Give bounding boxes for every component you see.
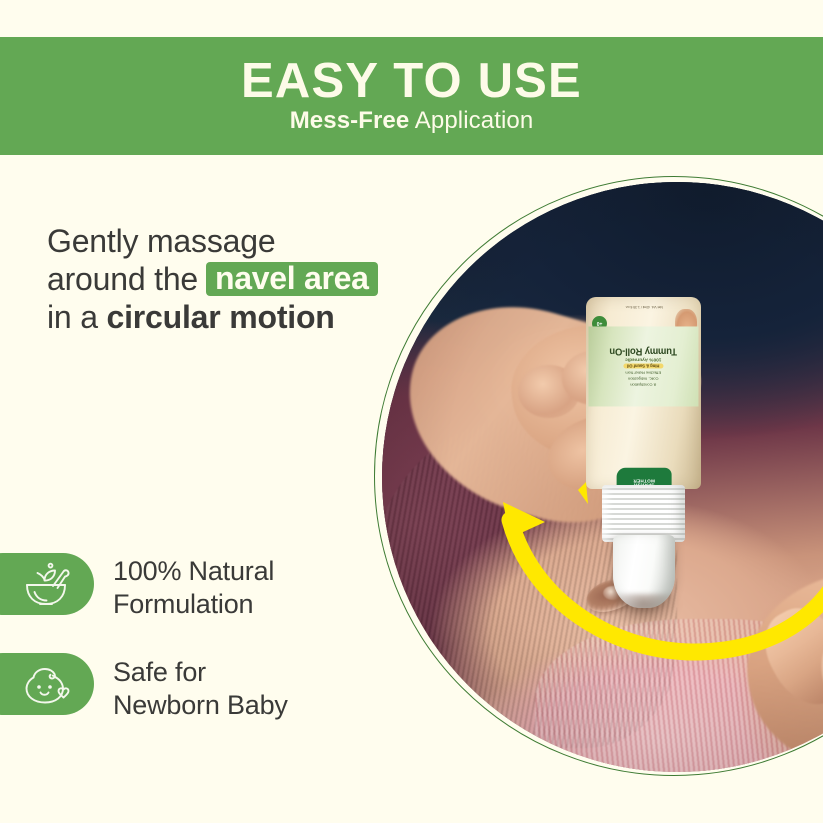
bottle-label: & Constipation Colic, Indigestion Effect… — [588, 326, 698, 406]
header-subtitle-bold: Mess-Free — [290, 107, 410, 134]
feature-label-natural: 100% Natural Formulation — [113, 555, 274, 621]
bottle-contact-shadow — [607, 594, 681, 627]
product-name: Tummy Roll-On — [610, 345, 677, 357]
instruction-line-2: around the navel area — [47, 260, 387, 298]
header-subtitle-rest: Application — [415, 107, 534, 134]
instruction-text-block: Gently massage around the navel area in … — [47, 222, 387, 336]
bottle-body: Net Vol. 40ml / 1.35 fl.oz. +0 & Constip… — [586, 297, 701, 489]
instruction-line-3-prefix: in a — [47, 299, 98, 335]
product-usage-photo: Net Vol. 40ml / 1.35 fl.oz. +0 & Constip… — [382, 182, 823, 772]
header-band: EASY TO USE Mess-Free Application — [0, 37, 823, 155]
bottle-neck-rings — [602, 485, 685, 541]
mortar-pestle-leaf-icon — [20, 561, 72, 607]
navel-area-highlight: navel area — [206, 262, 378, 296]
instruction-line-3: in a circular motion — [47, 298, 387, 336]
feature-1-line-1: 100% Natural — [113, 555, 274, 588]
instruction-line-3-bold: circular motion — [107, 299, 335, 335]
bottle-net-volume: Net Vol. 40ml / 1.35 fl.oz. — [625, 305, 663, 309]
claim-line-3: & Constipation — [631, 382, 657, 387]
instruction-line-2-prefix: around the — [47, 260, 198, 298]
tummy-roll-on-bottle: Net Vol. 40ml / 1.35 fl.oz. +0 & Constip… — [586, 297, 701, 627]
feature-label-newborn-safe: Safe for Newborn Baby — [113, 656, 288, 722]
feature-badge-natural — [0, 553, 94, 615]
header-subtitle: Mess-Free Application — [290, 108, 534, 134]
page-title: EASY TO USE — [241, 57, 582, 106]
ingredient-pill: Hing & Saunf Oil — [624, 364, 664, 369]
feature-2-line-1: Safe for — [113, 656, 288, 689]
feature-badge-newborn-safe — [0, 653, 94, 715]
baby-face-heart-icon — [20, 661, 72, 707]
claim-line-1: Effective Relief from — [626, 370, 662, 375]
claim-line-2: Colic, Indigestion — [628, 376, 658, 381]
product-tagline: 100% Ayurvedic — [626, 357, 662, 362]
instruction-line-1: Gently massage — [47, 222, 387, 260]
infographic-canvas: EASY TO USE Mess-Free Application Net Vo… — [0, 0, 823, 823]
brand-logo-line1: MOTHER — [633, 477, 655, 482]
feature-1-line-2: Formulation — [113, 588, 274, 621]
feature-2-line-2: Newborn Baby — [113, 689, 288, 722]
